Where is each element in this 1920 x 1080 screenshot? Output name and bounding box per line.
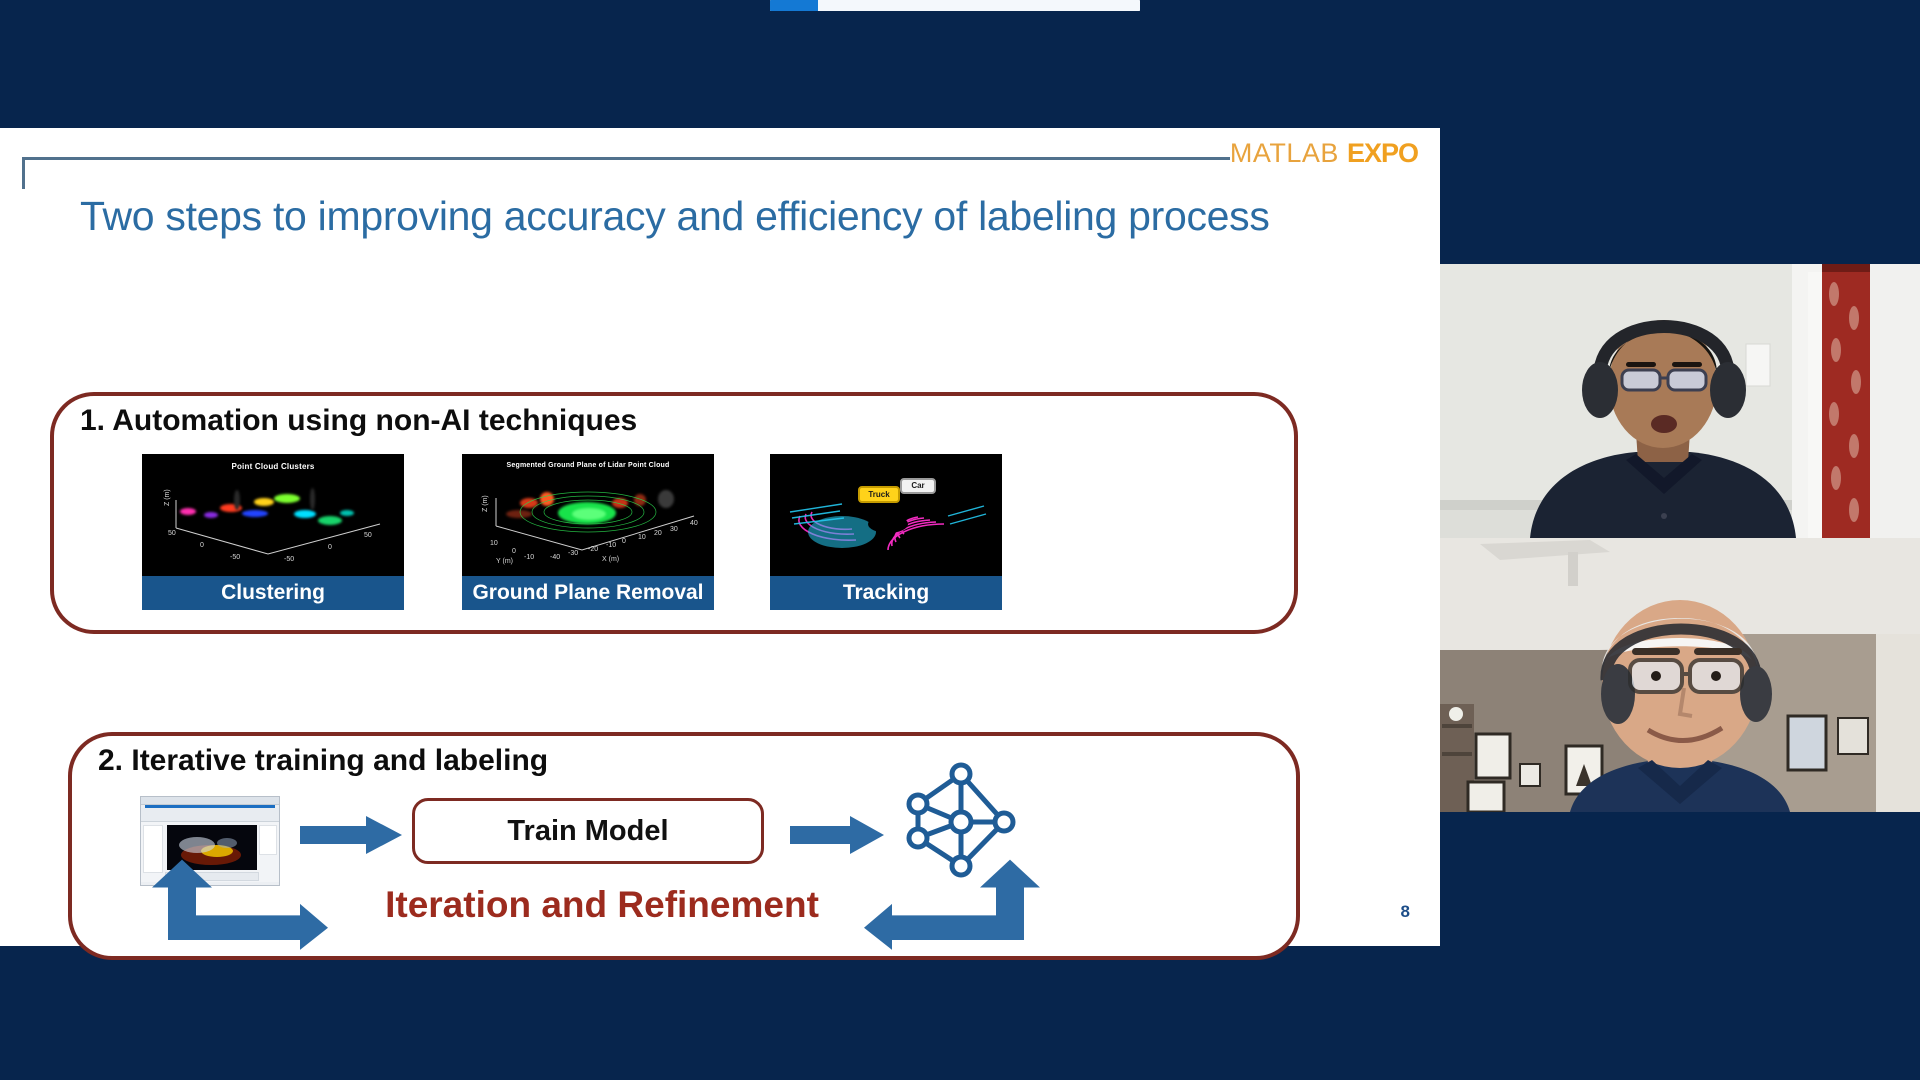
video-tile-speaker-2[interactable]	[1440, 538, 1920, 812]
tick-label: -20	[588, 546, 598, 553]
slide-header: MATLAB EXPO	[0, 128, 1440, 188]
tick-label: 20	[654, 530, 662, 537]
tick-label: -10	[606, 542, 616, 549]
tick-label: -10	[524, 554, 534, 561]
progress-fill	[770, 0, 818, 11]
train-model-label: Train Model	[507, 815, 668, 848]
slide-page-number: 8	[1401, 902, 1410, 922]
app-toolstrip	[141, 808, 279, 822]
tracking-label-truck: Truck	[860, 488, 898, 501]
panel-tracking[interactable]: Truck Car Tracking	[770, 454, 1002, 610]
tick-label: 30	[670, 526, 678, 533]
slide-canvas: MATLAB EXPO Two steps to improving accur…	[0, 128, 1440, 946]
tracking-label-car: Car	[902, 480, 934, 492]
axis-label: X (m)	[602, 556, 619, 563]
tick-label: -50	[284, 556, 294, 563]
section-automation-heading: 1. Automation using non-AI techniques	[80, 404, 637, 438]
tick-label: 10	[638, 534, 646, 541]
section-iterative: 2. Iterative training and labeling	[68, 732, 1300, 960]
logo-expo-text: EXPO	[1347, 138, 1418, 168]
axis-label: Y (m)	[496, 558, 513, 565]
arrow-loop-left	[150, 858, 330, 958]
tick-label: -40	[550, 554, 560, 561]
panel-ground-plane-removal[interactable]: Segmented Ground Plane of Lidar Point Cl…	[462, 454, 714, 610]
clustering-caption: Clustering	[142, 576, 404, 610]
tracking-figure: Truck Car	[770, 454, 1002, 576]
tick-label: 50	[364, 532, 372, 539]
tick-label: 0	[200, 542, 204, 549]
arrow-loop-right	[862, 858, 1042, 958]
header-corner-bracket	[22, 157, 25, 189]
tick-label: -50	[230, 554, 240, 561]
arrow-labeler-to-train	[300, 816, 404, 854]
iteration-refinement-label: Iteration and Refinement	[357, 884, 847, 926]
tick-label: 0	[622, 538, 626, 545]
axis-label: Z (m)	[482, 495, 489, 512]
section-iterative-heading: 2. Iterative training and labeling	[98, 744, 548, 778]
presentation-progress-bar[interactable]	[770, 0, 1140, 11]
axis-label: Z (m)	[164, 489, 171, 506]
tick-label: 40	[690, 520, 698, 527]
presentation-window: MATLAB EXPO Two steps to improving accur…	[0, 0, 1920, 1080]
app-right-pane	[259, 825, 277, 855]
tick-label: 50	[168, 530, 176, 537]
ground-plane-caption: Ground Plane Removal	[462, 576, 714, 610]
page-title: Two steps to improving accuracy and effi…	[80, 193, 1270, 240]
app-titlebar	[141, 797, 279, 805]
arrow-train-to-network	[790, 816, 886, 854]
matlab-expo-logo: MATLAB EXPO	[1230, 138, 1418, 169]
tick-label: 10	[490, 540, 498, 547]
section-automation: 1. Automation using non-AI techniques Po…	[50, 392, 1298, 634]
logo-matlab-text: MATLAB	[1230, 138, 1339, 168]
tick-label: 0	[328, 544, 332, 551]
clustering-figure: Point Cloud Clusters	[142, 454, 404, 576]
panel-clustering[interactable]: Point Cloud Clusters	[142, 454, 404, 610]
tracking-caption: Tracking	[770, 576, 1002, 610]
progress-track	[818, 0, 1140, 11]
tick-label: 0	[512, 548, 516, 555]
header-rule	[22, 157, 1230, 160]
train-model-box[interactable]: Train Model	[412, 798, 764, 864]
tick-label: -30	[568, 550, 578, 557]
video-tile-speaker-1[interactable]	[1440, 264, 1920, 538]
ground-plane-figure: Segmented Ground Plane of Lidar Point Cl…	[462, 454, 714, 576]
